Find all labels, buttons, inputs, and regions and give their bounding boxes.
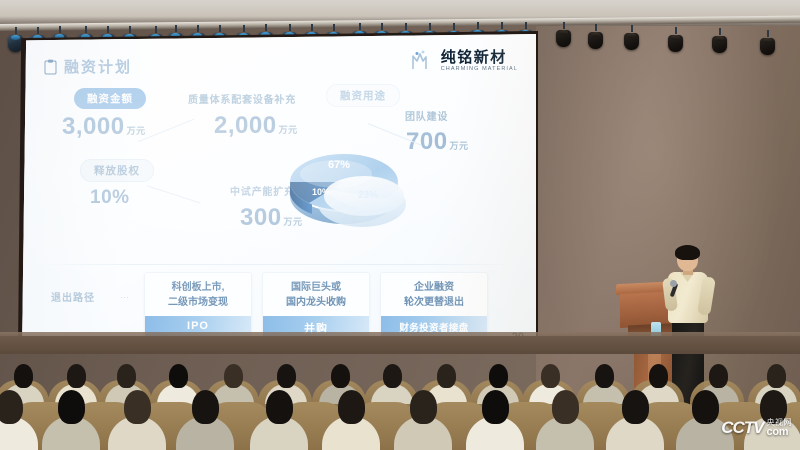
audience-member: [0, 386, 38, 450]
exit-card-ma-line1: 国际巨头或: [267, 280, 365, 295]
presentation-slide: 融资计划 纯铭新材 CHARMING MATERIAL 融资金额 3,000万元: [22, 34, 536, 350]
exit-card-ipo: 科创板上市, 二级市场变现 IPO: [144, 272, 252, 337]
audience-head: [14, 364, 33, 388]
audience-head: [0, 390, 23, 424]
audience-member: [394, 386, 452, 450]
callout-line-pilot: [147, 185, 201, 203]
audience-head: [277, 364, 296, 388]
audience-head: [410, 390, 437, 424]
exit-card-ma: 国际巨头或 国内龙头收购 并购: [262, 272, 370, 341]
audience-member: [250, 386, 308, 450]
exit-card-financial-investor-line2: 轮次更替退出: [385, 295, 483, 310]
presenter-hair: [675, 245, 700, 260]
audience-head: [58, 390, 85, 424]
audience-head: [767, 364, 786, 388]
audience-head: [622, 390, 649, 424]
pie-label-2: 10%: [312, 187, 330, 197]
stage-light: [556, 22, 572, 47]
audience-head: [489, 364, 508, 388]
exit-path-section: 退出路径 ··· 科创板上市, 二级市场变现 IPO 国际巨头或 国内龙头收购 …: [36, 272, 522, 328]
funding-amount-number: 3,000: [62, 113, 125, 140]
audience-head: [437, 364, 456, 388]
audience-head: [649, 364, 668, 388]
audience-head: [331, 364, 350, 388]
audience-head: [224, 364, 243, 388]
audience-member: [176, 386, 234, 450]
quality-system-number: 2,000: [214, 112, 277, 139]
funding-overview: 融资金额 3,000万元 释放股权 10% 质量体系配套设备补充 2,000万元…: [36, 86, 522, 258]
audience-member: [536, 386, 594, 450]
audience-head: [67, 364, 86, 388]
team-building-label: 团队建设: [405, 108, 448, 123]
stage-light: [624, 25, 640, 50]
audience-head: [482, 390, 509, 424]
exit-card-ipo-line1: 科创板上市,: [149, 280, 247, 295]
projection-screen: 融资计划 纯铭新材 CHARMING MATERIAL 融资金额 3,000万元: [22, 34, 536, 350]
watermark-brand: CCTV: [721, 418, 763, 438]
equity-release-label: 释放股权: [80, 159, 154, 182]
quality-system-label: 质量体系配套设备补充: [188, 91, 296, 106]
audience-head: [266, 390, 293, 424]
audience-head: [169, 364, 188, 388]
use-of-funds-pie-chart: 67% 10% 23%: [276, 122, 432, 242]
audience-member: [42, 386, 100, 450]
logo-name-cn: 纯铭新材: [441, 50, 518, 65]
audience-head: [192, 390, 219, 424]
pie-label-1: 23%: [358, 190, 378, 201]
m-logo-icon: [410, 48, 436, 74]
audience-head: [595, 364, 614, 388]
clipboard-icon: [44, 59, 57, 75]
company-logo: 纯铭新材 CHARMING MATERIAL: [410, 48, 518, 74]
exit-card-ma-body: 国际巨头或 国内龙头收购: [263, 273, 369, 316]
stage-light: [588, 24, 604, 49]
stage-light: [668, 27, 684, 52]
equity-release-value: 10%: [90, 187, 130, 209]
exit-card-financial-investor-body: 企业融资 轮次更替退出: [381, 273, 487, 316]
cctv-watermark: CCTV 央视网 com: [721, 418, 792, 438]
callout-line-quality: [138, 119, 194, 142]
funding-amount-label: 融资金额: [74, 88, 146, 109]
microphone-head: [670, 280, 677, 287]
conference-room-scene: 融资计划 纯铭新材 CHARMING MATERIAL 融资金额 3,000万元: [0, 0, 800, 450]
funding-amount-unit: 万元: [127, 126, 146, 136]
logo-name-en: CHARMING MATERIAL: [441, 67, 518, 73]
audience-head: [692, 390, 719, 424]
section-divider: [38, 264, 520, 265]
pie-svg: 67% 10% 23%: [276, 122, 432, 242]
page-title-text: 融资计划: [64, 56, 132, 77]
exit-card-ipo-line2: 二级市场变现: [149, 295, 247, 310]
audience: [0, 345, 800, 450]
exit-card-ma-line2: 国内龙头收购: [267, 295, 365, 310]
exit-path-label: 退出路径: [36, 272, 110, 304]
audience-head: [541, 364, 560, 388]
audience-head: [338, 390, 365, 424]
exit-card-financial-investor-line1: 企业融资: [385, 280, 483, 295]
page-title: 融资计划: [44, 56, 132, 77]
watermark-domain: com: [767, 427, 793, 438]
audience-head: [117, 364, 136, 388]
team-building-unit: 万元: [450, 141, 469, 151]
audience-head: [383, 364, 402, 388]
funding-amount-value: 3,000万元: [62, 113, 146, 141]
stage-light: [712, 28, 728, 53]
audience-member: [606, 386, 664, 450]
audience-head: [124, 390, 151, 424]
audience-member: [108, 386, 166, 450]
exit-card-financial-investor: 企业融资 轮次更替退出 财务投资者接盘: [380, 272, 488, 339]
exit-path-connector: ···: [120, 272, 134, 302]
exit-card-ipo-body: 科创板上市, 二级市场变现: [145, 273, 251, 316]
audience-member: [466, 386, 524, 450]
audience-head: [709, 364, 728, 388]
use-of-funds-label: 融资用途: [326, 84, 400, 107]
stage-light: [760, 30, 776, 55]
audience-head: [552, 390, 579, 424]
audience-member: [322, 386, 380, 450]
pie-label-0: 67%: [328, 159, 350, 171]
